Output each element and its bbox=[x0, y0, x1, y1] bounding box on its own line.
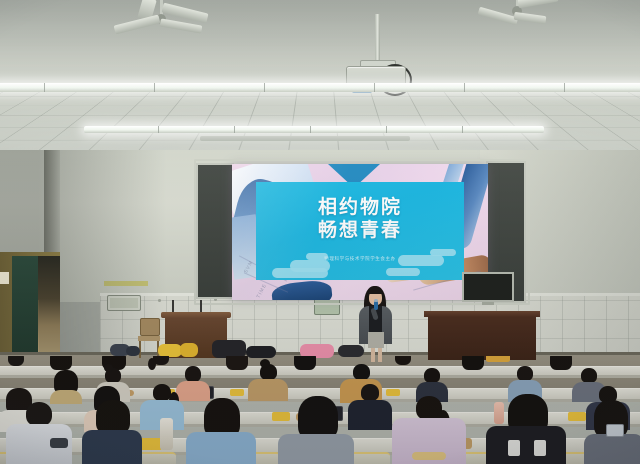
wall-monitor bbox=[462, 272, 514, 302]
hair bbox=[550, 356, 572, 370]
floor-bag bbox=[126, 346, 140, 356]
torso bbox=[278, 434, 354, 464]
head bbox=[8, 356, 24, 366]
audience-person bbox=[392, 396, 466, 464]
audience-person bbox=[486, 394, 566, 464]
projector-mount-rod bbox=[375, 14, 380, 62]
torso bbox=[82, 430, 142, 464]
audience-person bbox=[248, 364, 288, 400]
head bbox=[517, 366, 533, 381]
student-presenter bbox=[356, 286, 396, 362]
presenter-skirt bbox=[368, 332, 384, 348]
side-desk bbox=[428, 316, 536, 360]
ponytail bbox=[148, 358, 156, 370]
ceiling-fan bbox=[104, 0, 224, 44]
hair bbox=[294, 356, 316, 370]
door-notice-paper bbox=[0, 272, 9, 284]
head bbox=[581, 368, 597, 383]
audience-person bbox=[392, 356, 418, 372]
yellow-cap bbox=[486, 356, 510, 362]
hair bbox=[96, 400, 130, 434]
hair bbox=[50, 356, 72, 370]
head bbox=[395, 356, 411, 365]
audience-area bbox=[0, 356, 640, 464]
lecture-hall-photo: SVM TIME 相约物院 畅想青春 物理科学与技术学院学生会主办 bbox=[0, 0, 640, 464]
smartphone[interactable] bbox=[606, 424, 624, 437]
garment-print bbox=[508, 440, 520, 456]
head bbox=[424, 368, 440, 383]
door-header-shadow bbox=[44, 150, 60, 254]
hair-bun bbox=[104, 364, 113, 372]
ceiling-fixture-bar bbox=[200, 136, 410, 141]
fluorescent-light-strip bbox=[84, 126, 544, 133]
floor-bag-yellow bbox=[180, 343, 198, 357]
chair-back bbox=[140, 318, 160, 336]
head bbox=[185, 366, 201, 382]
audience-person bbox=[292, 356, 320, 372]
garment-print bbox=[412, 452, 446, 460]
stage-chair[interactable] bbox=[138, 318, 160, 358]
head bbox=[361, 384, 379, 401]
torso bbox=[186, 432, 256, 464]
hair-bun bbox=[260, 359, 270, 368]
audience-person bbox=[82, 400, 142, 464]
microphone-head bbox=[374, 299, 378, 302]
audience-person bbox=[4, 356, 30, 372]
torso bbox=[584, 434, 640, 464]
head bbox=[26, 402, 52, 426]
microphone bbox=[374, 301, 378, 310]
audience-person bbox=[460, 356, 488, 372]
presenter-bangs bbox=[368, 288, 383, 294]
audience-person bbox=[6, 402, 72, 464]
podium-top bbox=[161, 312, 231, 318]
audience-person bbox=[348, 384, 392, 428]
sleeve-stripe bbox=[50, 438, 68, 448]
head bbox=[353, 364, 370, 380]
audience-person bbox=[50, 370, 82, 400]
hair bbox=[226, 356, 248, 370]
garment-print bbox=[534, 440, 546, 456]
monitor-stand bbox=[482, 302, 494, 305]
ceiling-fan bbox=[470, 0, 580, 40]
yellow-bag bbox=[230, 389, 244, 396]
fluorescent-light-strip bbox=[0, 83, 640, 92]
side-desk-top bbox=[424, 311, 540, 317]
hair bbox=[462, 356, 484, 370]
fan-blade bbox=[518, 0, 559, 8]
torso bbox=[348, 400, 392, 430]
water-bottle bbox=[160, 418, 173, 450]
torso bbox=[486, 426, 566, 464]
audience-person bbox=[150, 356, 176, 372]
fan-blade bbox=[514, 12, 547, 24]
audience-person bbox=[186, 398, 256, 464]
audience-person bbox=[278, 396, 354, 464]
